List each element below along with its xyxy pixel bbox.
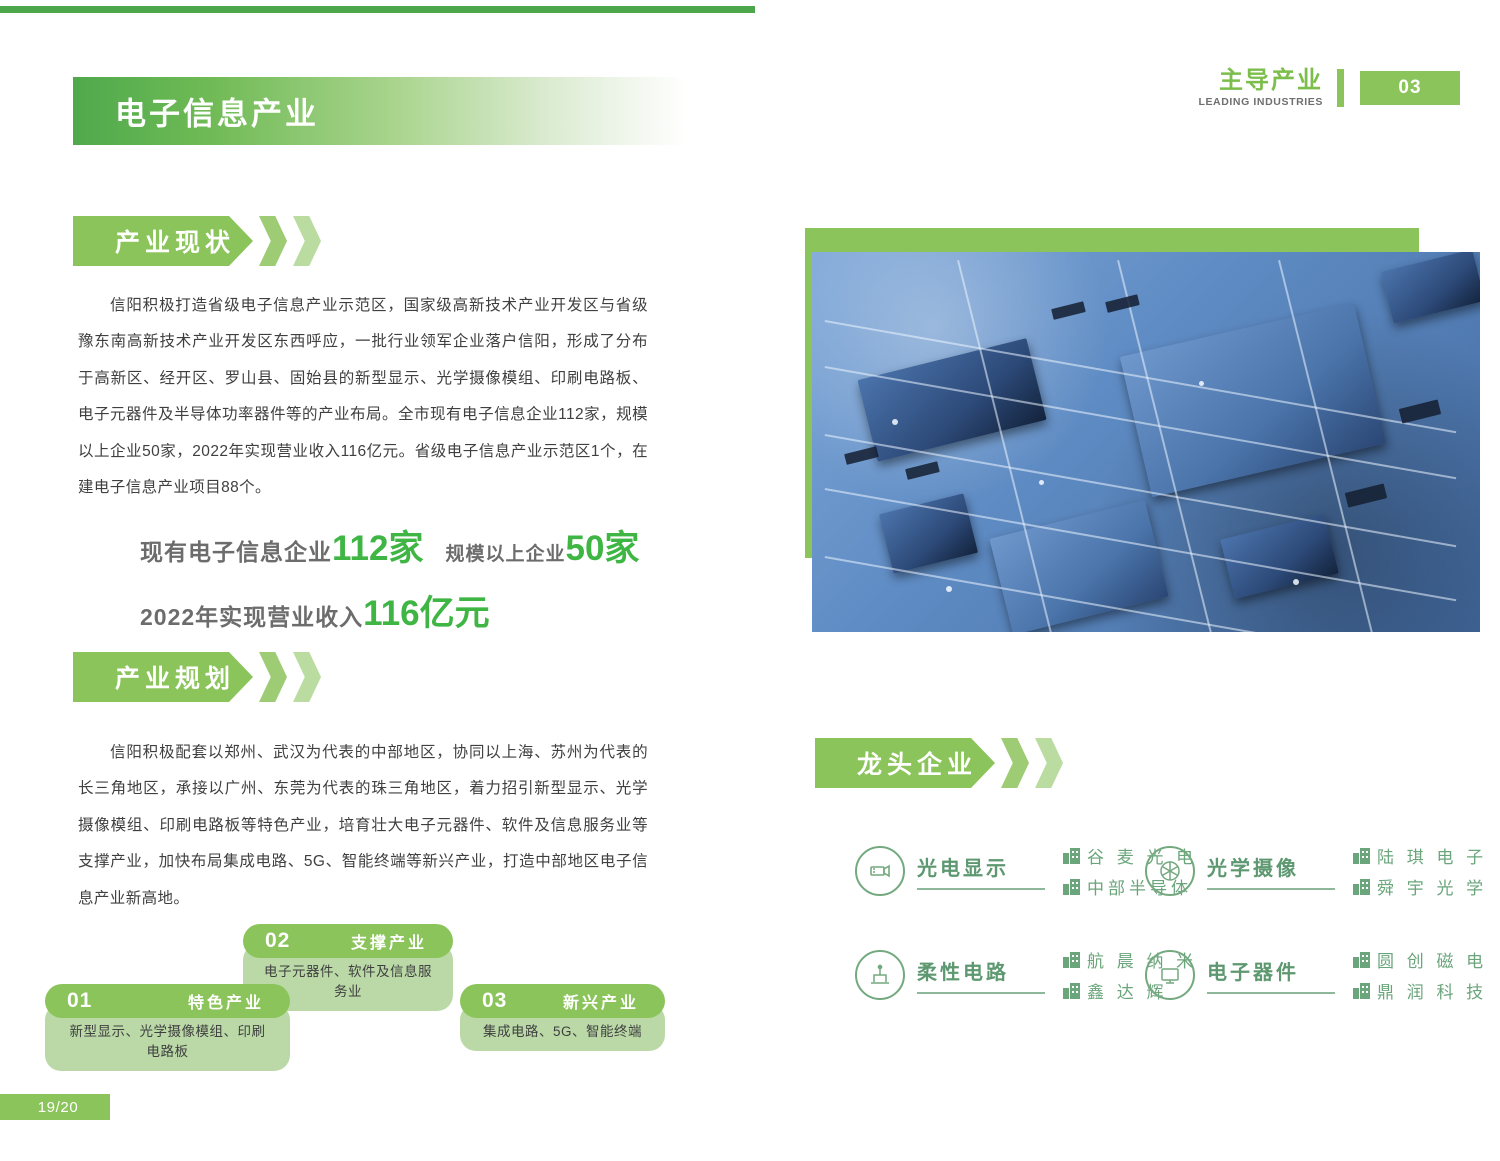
enterprise-row: 光电显示 谷 麦 光 电 [855,840,1475,902]
industry-card-01-title: 特色产业 [188,989,264,1013]
display-panel-icon [855,846,905,896]
enterprise-category-components: 电子器件 [1207,956,1335,994]
list-item: 陆 琪 电 子 [1353,843,1487,868]
page-header: 主导产业 LEADING INDUSTRIES 03 [1198,68,1460,108]
enterprise-category-label: 柔性电路 [917,956,1045,985]
industry-card-03: 03 新兴产业 集成电路、5G、智能终端 [460,984,665,1051]
header-divider [1337,69,1344,107]
industry-card-02-title: 支撑产业 [351,929,427,953]
stat-value: 116亿元 [363,585,489,636]
chevron-icon [293,652,321,702]
pcb-illustration [812,252,1480,632]
enterprise-row: 柔性电路 航 晨 纳 米 [855,944,1475,1006]
page-title-banner: 电子信息产业 [73,77,686,145]
underline-rule [917,888,1045,890]
chevron-icon [259,652,287,702]
underline-rule [917,992,1045,994]
building-icon [1063,952,1080,968]
enterprise-category-label: 光学摄像 [1207,852,1335,881]
industry-card-03-number: 03 [482,989,507,1013]
enterprise-category-camera: 光学摄像 [1207,852,1335,890]
underline-rule [1207,888,1335,890]
document-page: 主导产业 LEADING INDUSTRIES 03 电子信息产业 产业现状 信… [0,0,1500,1161]
list-item: 圆 创 磁 电 [1353,947,1487,972]
leading-enterprises-grid: 光电显示 谷 麦 光 电 [855,840,1475,1048]
status-stats: 现有电子信息企业 112家 规模以上企业 50家 2022年实现营业收入 116… [140,520,660,650]
building-icon [1353,879,1370,895]
list-item: 鼎 润 科 技 [1353,978,1487,1003]
enterprise-cell-flexcircuit: 柔性电路 航 晨 纳 米 [855,944,1145,1006]
section-header-leading-body: 龙头企业 [815,738,995,788]
section-header-status-body: 产业现状 [73,216,253,266]
industry-card-01-number: 01 [67,989,92,1013]
section-header-plan-label: 产业规划 [115,659,235,695]
section-header-leading: 龙头企业 [815,738,1063,788]
industry-card-02-number: 02 [265,929,290,953]
industry-card-02-head: 02 支撑产业 [243,924,453,958]
enterprise-company-list: 圆 创 磁 电 鼎 润 科 技 [1353,944,1487,1006]
chapter-number-badge: 03 [1360,71,1460,105]
industry-card-03-head: 03 新兴产业 [460,984,665,1018]
chevron-icon [1035,738,1063,788]
camera-aperture-icon [1145,846,1195,896]
building-icon [1353,952,1370,968]
industry-card-01-head: 01 特色产业 [45,984,290,1018]
stat-label-secondary: 规模以上企业 [445,539,565,566]
industry-card-01: 01 特色产业 新型显示、光学摄像模组、印刷电路板 [45,984,290,1071]
circuit-board-photo [812,252,1480,632]
company-name: 陆 琪 电 子 [1377,843,1487,868]
page-number: 19/20 [24,1099,79,1116]
company-name: 舜 宇 光 学 [1377,874,1487,899]
building-icon [1063,879,1080,895]
monitor-icon [1145,950,1195,1000]
enterprise-cell-display: 光电显示 谷 麦 光 电 [855,840,1145,902]
section-header-plan-body: 产业规划 [73,652,253,702]
section-header-status-label: 产业现状 [115,223,235,259]
page-number-bar: 19/20 [0,1094,110,1120]
section-header-status: 产业现状 [73,216,321,266]
enterprise-cell-components: 电子器件 圆 创 磁 电 [1145,944,1435,1006]
stat-value: 112家 [332,520,423,571]
section-header-plan: 产业规划 [73,652,321,702]
underline-rule [1207,992,1335,994]
industry-card-03-title: 新兴产业 [563,989,639,1013]
section-header-leading-label: 龙头企业 [857,745,977,781]
header-text-block: 主导产业 LEADING INDUSTRIES [1198,68,1323,108]
chevron-icon [293,216,321,266]
header-title-en: LEADING INDUSTRIES [1198,96,1323,108]
stat-label: 2022年实现营业收入 [140,598,363,632]
chevron-icon [1001,738,1029,788]
building-icon [1353,983,1370,999]
building-icon [1063,848,1080,864]
enterprise-category-label: 电子器件 [1207,956,1335,985]
enterprise-company-list: 陆 琪 电 子 舜 宇 光 学 [1353,840,1487,902]
page-title: 电子信息产业 [115,89,319,134]
top-accent-rule [0,6,755,13]
stat-value-secondary: 50家 [565,520,639,571]
header-title-cn: 主导产业 [1198,68,1323,93]
building-icon [1353,848,1370,864]
flexible-circuit-icon [855,950,905,1000]
stat-label: 现有电子信息企业 [140,533,332,567]
building-icon [1063,983,1080,999]
status-paragraph: 信阳积极打造省级电子信息产业示范区，国家级高新技术产业开发区与省级豫东南高新技术… [78,288,648,507]
enterprise-cell-camera: 光学摄像 陆 琪 电 子 [1145,840,1435,902]
chevron-icon [259,216,287,266]
company-name: 圆 创 磁 电 [1377,947,1487,972]
plan-paragraph: 信阳积极配套以郑州、武汉为代表的中部地区，协同以上海、苏州为代表的长三角地区，承… [78,735,648,917]
company-name: 鼎 润 科 技 [1377,978,1487,1003]
enterprise-category-display: 光电显示 [917,852,1045,890]
enterprise-category-label: 光电显示 [917,852,1045,881]
list-item: 舜 宇 光 学 [1353,874,1487,899]
enterprise-category-flexcircuit: 柔性电路 [917,956,1045,994]
stat-line: 现有电子信息企业 112家 规模以上企业 50家 [140,520,660,571]
stat-line: 2022年实现营业收入 116亿元 [140,585,660,636]
